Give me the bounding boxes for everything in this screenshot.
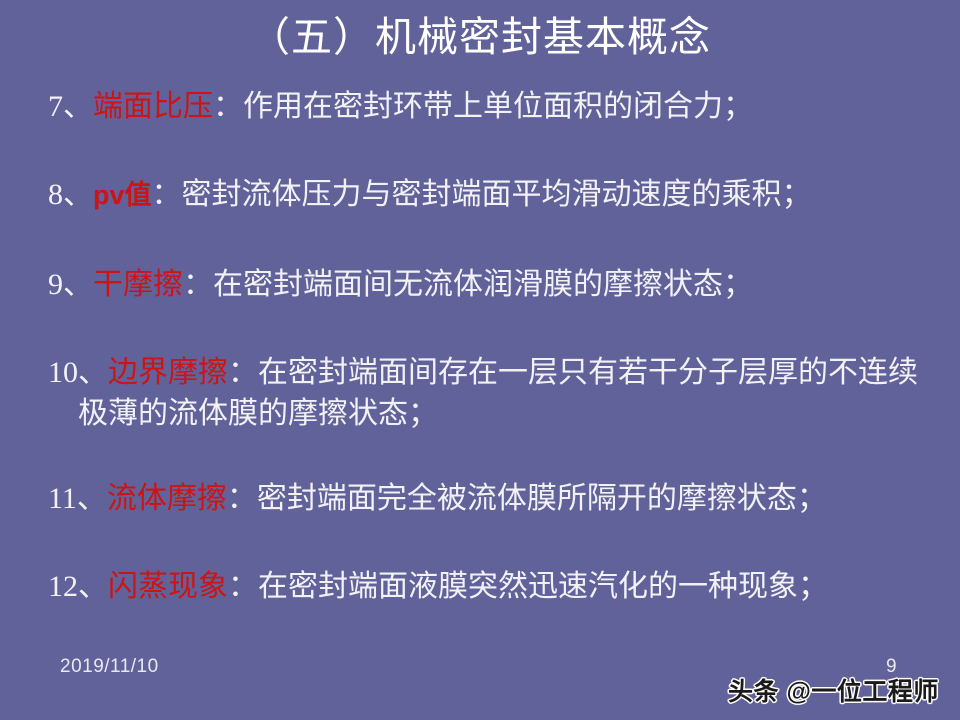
list-item-colon: ： — [227, 482, 257, 515]
list-item-term: 边界摩擦 — [108, 356, 228, 389]
list-item-number: 11、 — [48, 482, 107, 515]
list-item: 12、闪蒸现象：在密封端面液膜突然迅速汽化的一种现象； — [10, 566, 955, 607]
footer-date: 2019/11/10 — [60, 655, 159, 679]
list-item-number: 9、 — [48, 268, 93, 301]
list-item-colon: ： — [228, 356, 258, 389]
list-item-term: 端面比压 — [93, 90, 213, 123]
list-item-number: 12、 — [48, 570, 108, 603]
list-item: 8、pv值：密封流体压力与密封端面平均滑动速度的乘积； — [10, 174, 955, 216]
list-item-number: 10、 — [48, 356, 108, 389]
list-item-description: 在密封端面间无流体润滑膜的摩擦状态； — [213, 268, 753, 301]
list-item-colon: ： — [183, 268, 213, 301]
list-item-description: 在密封端面液膜突然迅速汽化的一种现象； — [258, 570, 828, 603]
watermark-label: 头条 @一位工程师 — [728, 676, 939, 708]
list-item-colon: ： — [152, 178, 182, 211]
list-item: 10、边界摩擦：在密封端面间存在一层只有若干分子层厚的不连续极薄的流体膜的摩擦状… — [10, 352, 955, 434]
list-item-description: 在密封端面间存在一层只有若干分子层厚的不连续 — [258, 356, 918, 389]
list-item-colon: ： — [228, 570, 258, 603]
list-item-description: 密封端面完全被流体膜所隔开的摩擦状态； — [257, 482, 827, 515]
list-item-colon: ： — [213, 90, 243, 123]
list-item-term: 干摩擦 — [93, 268, 183, 301]
list-item: 11、流体摩擦：密封端面完全被流体膜所隔开的摩擦状态； — [10, 478, 955, 519]
list-item-term: pv值 — [93, 180, 152, 210]
list-item-description-line2: 极薄的流体膜的摩擦状态； — [48, 393, 955, 434]
list-item: 7、端面比压：作用在密封环带上单位面积的闭合力； — [10, 86, 955, 127]
list-item-number: 7、 — [48, 90, 93, 123]
list-item: 9、干摩擦：在密封端面间无流体润滑膜的摩擦状态； — [10, 264, 955, 305]
list-item-description: 作用在密封环带上单位面积的闭合力； — [243, 90, 753, 123]
list-item-term: 流体摩擦 — [107, 482, 227, 515]
list-item-number: 8、 — [48, 178, 93, 211]
concept-list: 7、端面比压：作用在密封环带上单位面积的闭合力； 8、pv值：密封流体压力与密封… — [10, 86, 955, 607]
list-item-term: 闪蒸现象 — [108, 570, 228, 603]
page-title: （五）机械密封基本概念 — [0, 8, 960, 66]
slide-canvas: （五）机械密封基本概念 7、端面比压：作用在密封环带上单位面积的闭合力； 8、p… — [0, 0, 960, 720]
list-item-description: 密封流体压力与密封端面平均滑动速度的乘积； — [182, 178, 812, 211]
